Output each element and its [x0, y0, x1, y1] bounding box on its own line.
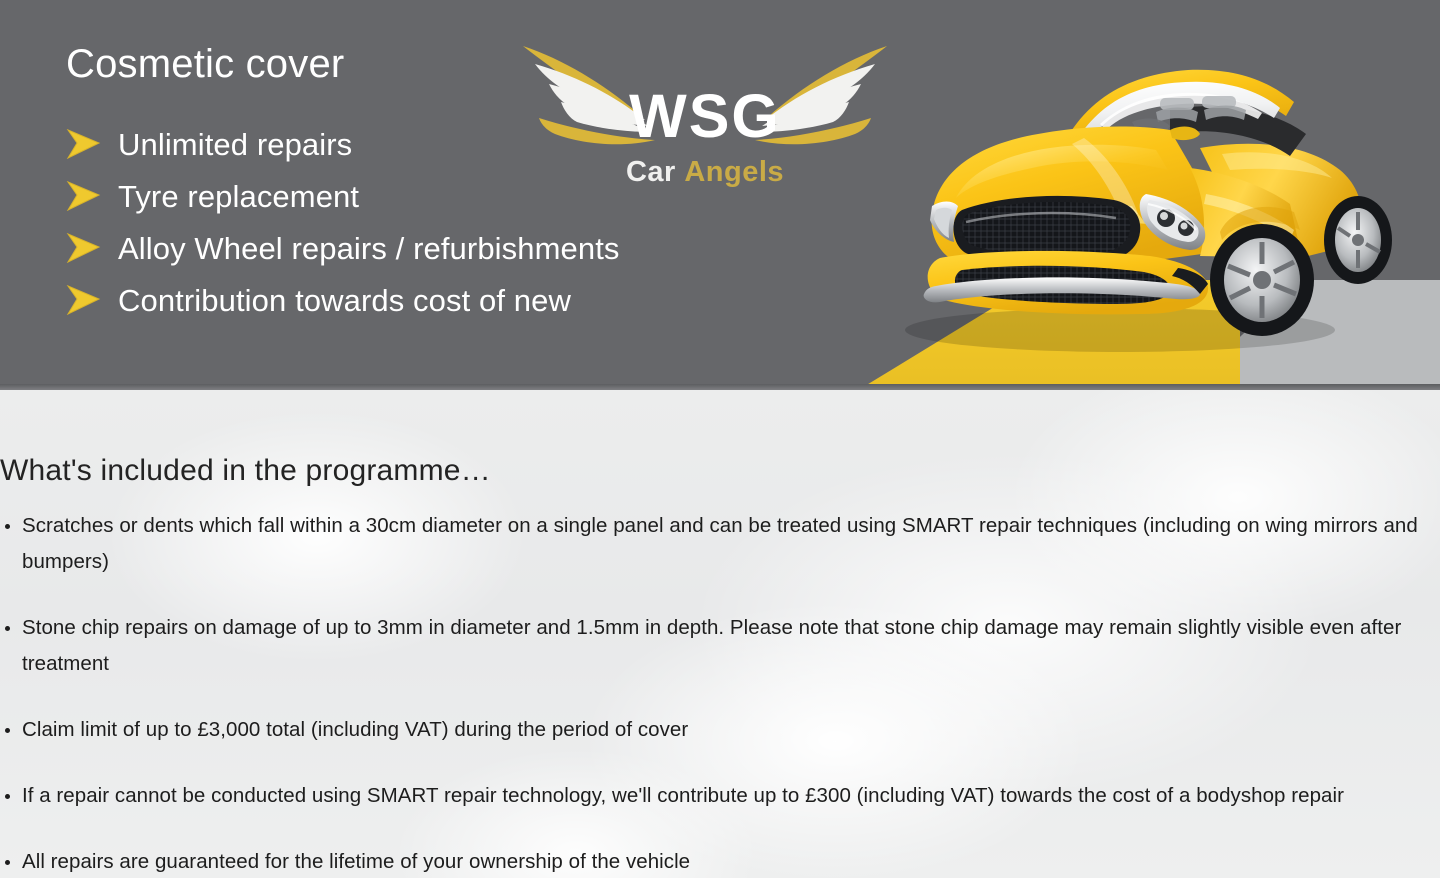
yellow-chevron-icon	[66, 129, 104, 159]
benefit-list-item: Claim limit of up to £3,000 total (inclu…	[0, 712, 1438, 748]
logo-tagline-angels: Angels	[684, 156, 784, 188]
hero-banner: Cosmetic cover Unlimited repairs Tyre re…	[0, 0, 1440, 390]
benefit-text: If a repair cannot be conducted using SM…	[22, 784, 1344, 807]
bullet-dot-icon	[5, 626, 10, 631]
benefit-list-item: Stone chip repairs on damage of up to 3m…	[0, 610, 1438, 682]
logo-tagline: Car Angels	[505, 158, 905, 187]
bullet-dot-icon	[5, 728, 10, 733]
cosmetic-cover-page: Cosmetic cover Unlimited repairs Tyre re…	[0, 0, 1440, 878]
benefit-text: Claim limit of up to £3,000 total (inclu…	[22, 718, 688, 741]
front-wheel	[1210, 224, 1314, 336]
benefit-text: All repairs are guaranteed for the lifet…	[22, 850, 690, 873]
feature-label: Tyre replacement	[118, 181, 359, 212]
feature-label: Alloy Wheel repairs / refurbishments	[118, 233, 620, 264]
benefit-list: Scratches or dents which fall within a 3…	[0, 508, 1438, 878]
content-section: What's included in the programme… Scratc…	[0, 390, 1440, 878]
bullet-dot-icon	[5, 794, 10, 799]
yellow-chevron-icon	[66, 285, 104, 315]
benefit-text: Scratches or dents which fall within a 3…	[22, 514, 1418, 573]
benefit-list-item: All repairs are guaranteed for the lifet…	[0, 844, 1438, 878]
feature-label: Unlimited repairs	[118, 129, 352, 160]
rear-wheel	[1324, 196, 1392, 284]
feature-item: Contribution towards cost of new	[66, 274, 786, 326]
logo-tagline-car: Car	[626, 156, 676, 188]
wsg-car-angels-logo: WSG Car Angels	[505, 38, 905, 208]
benefit-list-item: If a repair cannot be conducted using SM…	[0, 778, 1438, 814]
bullet-dot-icon	[5, 524, 10, 529]
benefit-list-item: Scratches or dents which fall within a 3…	[0, 508, 1438, 580]
yellow-chevron-icon	[66, 181, 104, 211]
benefit-text: Stone chip repairs on damage of up to 3m…	[22, 616, 1401, 675]
logo-wordmark: WSG	[505, 86, 905, 147]
hero-car-scene	[860, 0, 1440, 390]
feature-label: Contribution towards cost of new	[118, 285, 571, 316]
section-heading: What's included in the programme…	[0, 456, 491, 486]
yellow-chevron-icon	[66, 233, 104, 263]
bullet-dot-icon	[5, 860, 10, 865]
feature-item: Alloy Wheel repairs / refurbishments	[66, 222, 786, 274]
yellow-convertible-car-image	[870, 18, 1430, 366]
